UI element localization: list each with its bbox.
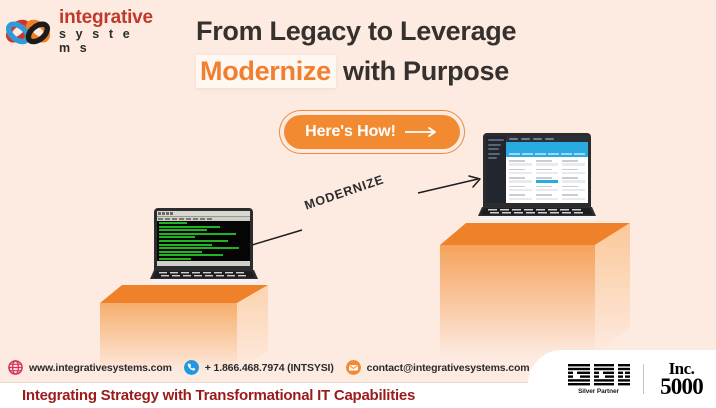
- dashboard-hero-banner: [506, 142, 588, 157]
- dashboard-ui: [486, 136, 588, 203]
- laptop-right-base: [478, 207, 596, 219]
- laptop-left-lid: [154, 208, 253, 270]
- contact-website[interactable]: www.integrativesystems.com: [8, 360, 172, 375]
- phone-icon: [184, 360, 199, 375]
- logo-word-systems: s y s t e m s: [59, 28, 153, 56]
- headline-block: From Legacy to Leverage Modernize with P…: [196, 12, 596, 90]
- laptop-right-bezel: [483, 133, 591, 207]
- inc-5000-badge: Inc. 5000: [651, 362, 713, 397]
- laptop-left-screen: [157, 211, 250, 266]
- ibm-badge: Silver Partner: [562, 364, 636, 395]
- logo-wordmark: integrative s y s t e m s: [59, 8, 153, 56]
- promotional-banner: integrative s y s t e m s From Legacy to…: [0, 0, 716, 408]
- dashboard-main: [506, 136, 588, 203]
- headline-line-1: From Legacy to Leverage: [196, 12, 596, 50]
- headline-line-2-rest: with Purpose: [336, 56, 509, 86]
- inc-badge-line-2: 5000: [660, 376, 703, 397]
- terminal-statusbar: [157, 261, 250, 266]
- laptop-right-screen: [486, 136, 588, 203]
- terminal-output: [157, 221, 250, 266]
- footer-tagline-text: Integrating Strategy with Transformation…: [22, 387, 415, 404]
- contact-email-text: contact@integrativesystems.com: [367, 362, 530, 374]
- ibm-partner-caption: Silver Partner: [578, 388, 619, 395]
- dashboard-form-grid: [506, 157, 588, 203]
- contact-phone-text: + 1.866.468.7974 (INTSYSI): [205, 362, 334, 374]
- company-logo[interactable]: integrative s y s t e m s: [6, 8, 152, 56]
- cta-button-ring: Here's How!: [279, 110, 465, 154]
- integrative-atom-logo-icon: [6, 10, 50, 54]
- headline-highlight-modernize: Modernize: [196, 55, 336, 88]
- contact-email[interactable]: contact@integrativesystems.com: [346, 360, 530, 375]
- badge-divider: [643, 364, 644, 394]
- logo-word-integrative: integrative: [59, 8, 153, 27]
- partner-badges-panel: Silver Partner Inc. 5000: [558, 350, 716, 408]
- headline-line-2: Modernize with Purpose: [196, 52, 596, 90]
- globe-icon: [8, 360, 23, 375]
- laptop-right-lid: [483, 133, 591, 207]
- arrow-right-icon: [405, 126, 439, 138]
- heres-how-button[interactable]: Here's How!: [284, 115, 460, 149]
- email-icon: [346, 360, 361, 375]
- modern-dashboard-laptop: [478, 133, 596, 219]
- legacy-terminal-laptop: [150, 208, 258, 282]
- legacy-terminal-ui: [157, 211, 250, 266]
- laptop-left-base: [150, 270, 258, 282]
- footer: www.integrativesystems.com + 1.866.468.7…: [0, 353, 716, 408]
- ibm-logo-icon: [568, 364, 630, 386]
- cta-label: Here's How!: [305, 123, 396, 141]
- laptop-left-bezel: [154, 208, 253, 270]
- contact-phone[interactable]: + 1.866.468.7974 (INTSYSI): [184, 360, 334, 375]
- contact-website-text: www.integrativesystems.com: [29, 362, 172, 374]
